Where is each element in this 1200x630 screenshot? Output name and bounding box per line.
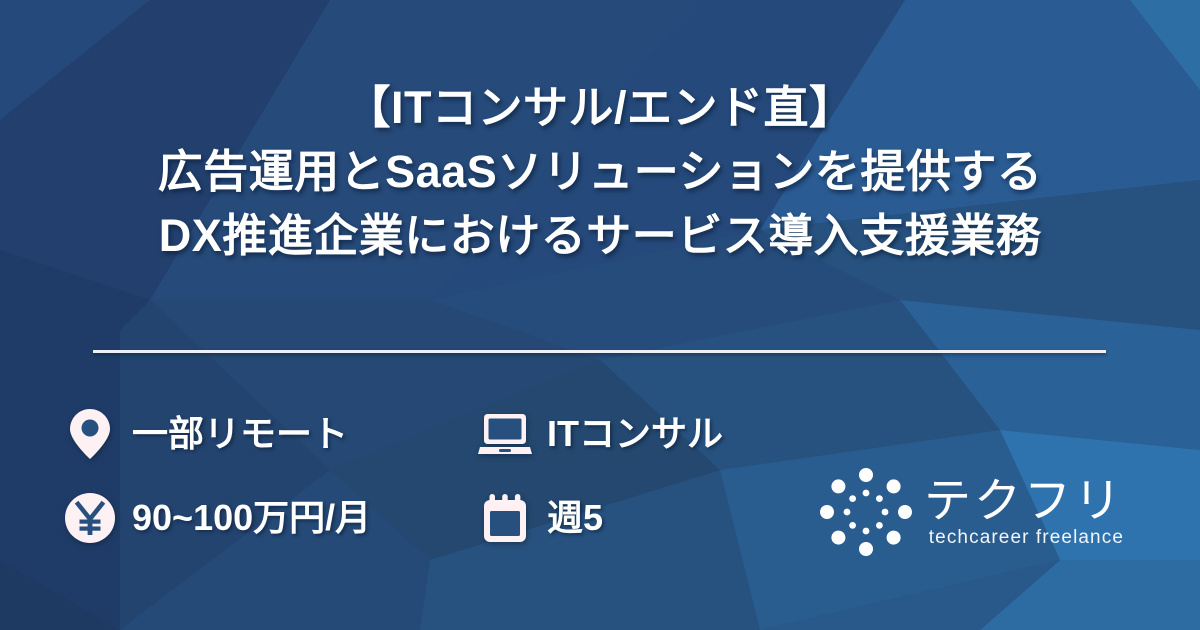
info-row: 一部リモート ITコンサル xyxy=(62,392,822,476)
ogp-card: 【ITコンサル/エンド直】 広告運用とSaaSソリューションを提供する DX推進… xyxy=(0,0,1200,630)
location-pin-icon xyxy=(62,406,118,462)
info-item-work-style: 一部リモート xyxy=(62,406,477,462)
info-label-job-category: ITコンサル xyxy=(547,414,723,454)
brand-logo: テクフリ techcareer freelance xyxy=(818,466,1148,558)
info-item-monthly-rate: 90~100万円/月 xyxy=(62,490,477,546)
laptop-icon xyxy=(477,406,533,462)
info-item-work-days: 週5 xyxy=(477,490,807,546)
info-label-monthly-rate: 90~100万円/月 xyxy=(132,498,371,538)
logo-name-en: techcareer freelance xyxy=(924,526,1124,550)
job-info-grid: 一部リモート ITコンサル xyxy=(62,392,822,560)
yen-circle-icon xyxy=(62,490,118,546)
logo-text: テクフリ techcareer freelance xyxy=(924,474,1124,550)
title-line-2: 広告運用とSaaSソリューションを提供する xyxy=(0,140,1200,204)
page-title: 【ITコンサル/エンド直】 広告運用とSaaSソリューションを提供する DX推進… xyxy=(0,76,1200,268)
info-row: 90~100万円/月 週5 xyxy=(62,476,822,560)
divider xyxy=(93,350,1106,353)
title-line-3: DX推進企業におけるサービス導入支援業務 xyxy=(0,204,1200,268)
calendar-icon xyxy=(477,490,533,546)
dot-cluster-icon xyxy=(818,466,914,558)
title-line-1: 【ITコンサル/エンド直】 xyxy=(0,76,1200,140)
logo-name-jp: テクフリ xyxy=(924,474,1124,528)
info-label-work-style: 一部リモート xyxy=(132,414,348,454)
info-item-job-category: ITコンサル xyxy=(477,406,807,462)
info-label-work-days: 週5 xyxy=(547,498,603,538)
